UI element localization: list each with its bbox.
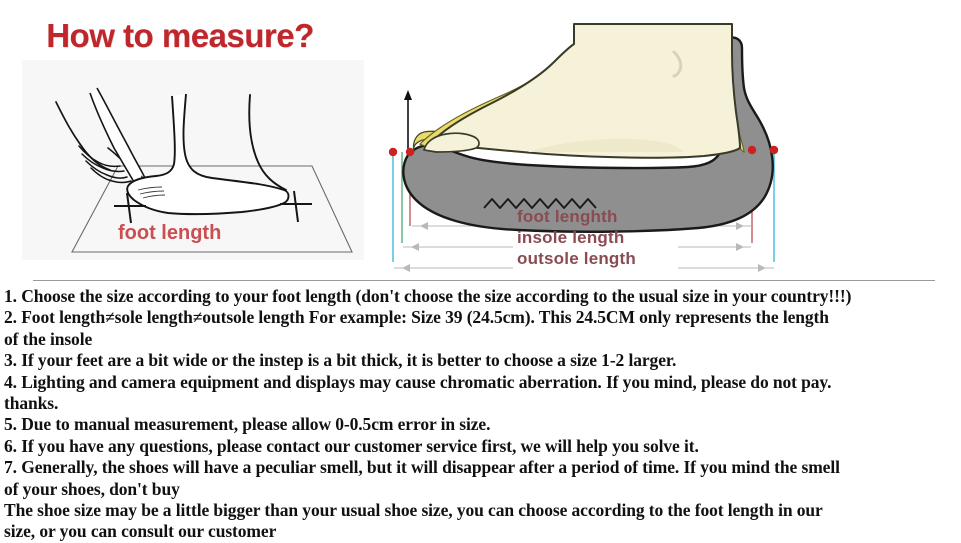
size-guide-page: How to measure? — [0, 0, 961, 530]
note-line: 5. Due to manual measurement, please all… — [0, 414, 961, 435]
note-line: 2. Foot length≠sole length≠outsole lengt… — [0, 307, 961, 328]
size-notes-list: 1. Choose the size according to your foo… — [0, 286, 961, 543]
note-line: 3. If your feet are a bit wide or the in… — [0, 350, 961, 371]
marker-dot-foot-toe — [406, 148, 414, 156]
marker-dot-outsole-toe — [389, 148, 397, 156]
note-line: 1. Choose the size according to your foo… — [0, 286, 961, 307]
note-line: thanks. — [0, 393, 961, 414]
note-line: size, or you can consult our customer — [0, 521, 961, 542]
note-line: 7. Generally, the shoes will have a pecu… — [0, 457, 961, 478]
marker-dot-outsole-heel — [770, 146, 778, 154]
illustration-band: How to measure? — [0, 0, 961, 276]
foot-dim-arrow-left — [420, 222, 428, 230]
shoe-cross-section-panel: foot lenghth insole length outsole lengt… — [378, 0, 961, 276]
insole-dim-arrow-right — [736, 243, 744, 251]
marker-dot-foot-heel — [748, 146, 756, 154]
note-line: The shoe size may be a little bigger tha… — [0, 500, 961, 521]
note-line: 4. Lighting and camera equipment and dis… — [0, 372, 961, 393]
outsole-dim-arrow-right — [758, 264, 766, 272]
shoe-cross-section-svg — [378, 0, 961, 276]
insole-length-dimension-label: insole length — [517, 228, 624, 248]
toe-height-arrow-head — [404, 90, 412, 100]
foot-dim-arrow-right — [736, 222, 744, 230]
insole-dim-arrow-left — [411, 243, 419, 251]
horizontal-divider — [33, 280, 935, 281]
page-title: How to measure? — [0, 17, 360, 55]
outsole-length-dimension-label: outsole length — [517, 249, 636, 269]
note-line: of the insole — [0, 329, 961, 350]
foot-length-label: foot length — [118, 222, 221, 245]
outsole-dim-arrow-left — [402, 264, 410, 272]
foot-length-dimension-label: foot lenghth — [517, 207, 618, 227]
shoe-cross-section-illustration — [378, 0, 961, 276]
note-line: of your shoes, don't buy — [0, 479, 961, 500]
note-line: 6. If you have any questions, please con… — [0, 436, 961, 457]
how-to-measure-panel: How to measure? — [0, 0, 378, 276]
